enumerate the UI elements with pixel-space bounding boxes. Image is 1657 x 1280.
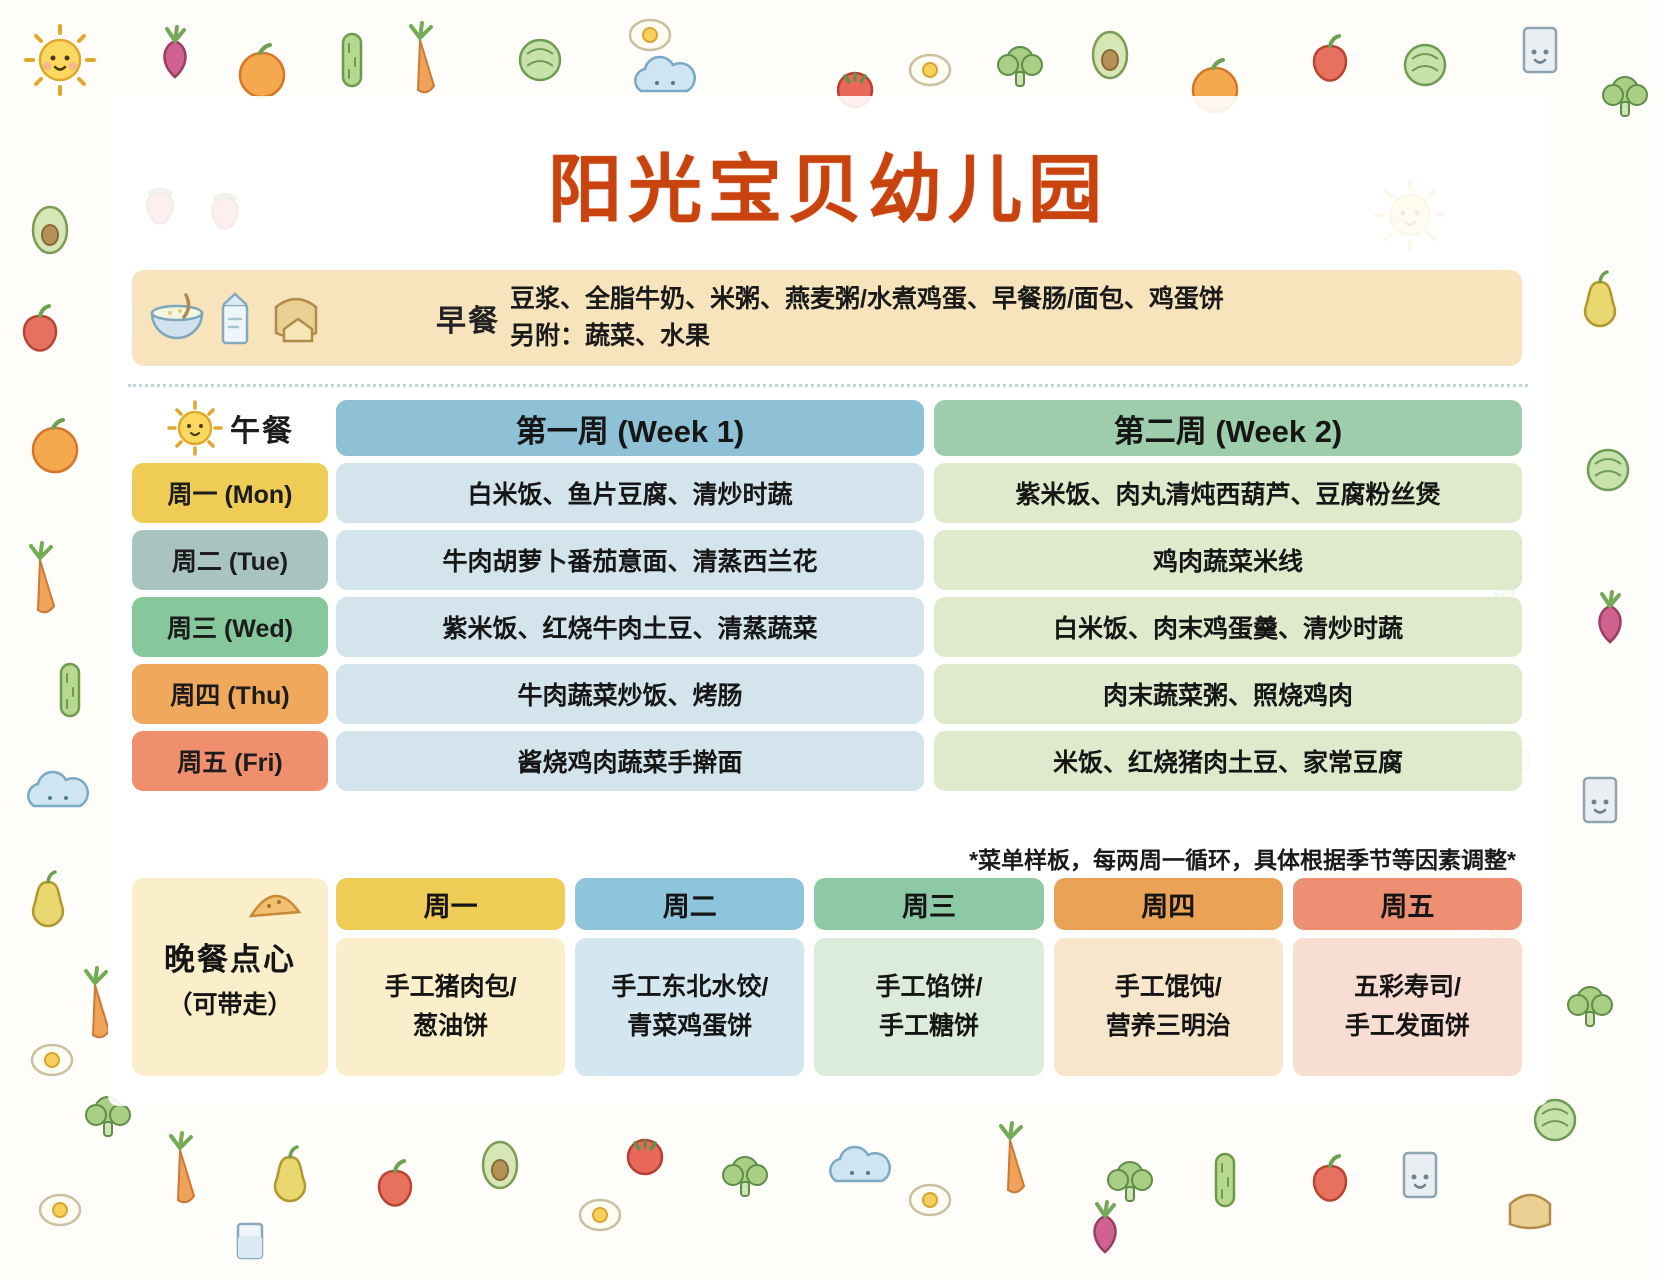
week1-cell-thu: 牛肉蔬菜炒饭、烤肠 bbox=[336, 664, 924, 724]
day-label-tue: 周二 (Tue) bbox=[132, 530, 328, 590]
lunch-row-wed: 周三 (Wed) 紫米饭、红烧牛肉土豆、清蒸蔬菜 白米饭、肉末鸡蛋羹、清炒时蔬 bbox=[132, 597, 1522, 657]
dinner-body-mon: 手工猪肉包/ 葱油饼 bbox=[336, 938, 565, 1076]
dinner-head-fri: 周五 bbox=[1293, 878, 1522, 930]
breakfast-line-2: 另附：蔬菜、水果 bbox=[510, 318, 1522, 356]
dinner-mon-line2: 葱油饼 bbox=[413, 1007, 488, 1046]
dinner-head-mon: 周一 bbox=[336, 878, 565, 930]
lunch-table: 午餐 第一周 (Week 1) 第二周 (Week 2) 周一 (Mon) 白米… bbox=[132, 400, 1522, 798]
dinner-tue-line1: 手工东北水饺/ bbox=[611, 968, 768, 1007]
dinner-thu-line1: 手工馄饨/ bbox=[1115, 968, 1222, 1007]
dinner-body-tue: 手工东北水饺/ 青菜鸡蛋饼 bbox=[575, 938, 804, 1076]
dinner-tue-line2: 青菜鸡蛋饼 bbox=[627, 1007, 752, 1046]
section-divider bbox=[128, 384, 1528, 387]
dinner-snack-section: 晚餐点心 （可带走） 周一 手工猪肉包/ 葱油饼 周二 手工东北水饺/ 青菜鸡蛋… bbox=[132, 878, 1522, 1076]
breakfast-text: 豆浆、全脂牛奶、米粥、燕麦粥/水煮鸡蛋、早餐肠/面包、鸡蛋饼 另附：蔬菜、水果 bbox=[504, 281, 1522, 356]
dinner-fri-line2: 手工发面饼 bbox=[1345, 1007, 1470, 1046]
porridge-bowl-icon bbox=[146, 289, 208, 347]
dinner-body-wed: 手工馅饼/ 手工糖饼 bbox=[814, 938, 1043, 1076]
lunch-row-mon: 周一 (Mon) 白米饭、鱼片豆腐、清炒时蔬 紫米饭、肉丸清炖西葫芦、豆腐粉丝煲 bbox=[132, 463, 1522, 523]
week1-cell-tue: 牛肉胡萝卜番茄意面、清蒸西兰花 bbox=[336, 530, 924, 590]
week1-header: 第一周 (Week 1) bbox=[336, 400, 924, 456]
lunch-row-fri: 周五 (Fri) 酱烧鸡肉蔬菜手擀面 米饭、红烧猪肉土豆、家常豆腐 bbox=[132, 731, 1522, 791]
dinner-col-fri: 周五 五彩寿司/ 手工发面饼 bbox=[1293, 878, 1522, 1076]
menu-poster: 阳光宝贝幼儿园 早餐 bbox=[0, 0, 1657, 1280]
dinner-col-wed: 周三 手工馅饼/ 手工糖饼 bbox=[814, 878, 1043, 1076]
dinner-fri-line1: 五彩寿司/ bbox=[1354, 968, 1461, 1007]
milk-carton-icon bbox=[214, 287, 256, 349]
lunch-row-tue: 周二 (Tue) 牛肉胡萝卜番茄意面、清蒸西兰花 鸡肉蔬菜米线 bbox=[132, 530, 1522, 590]
breakfast-icon-group bbox=[132, 287, 432, 349]
menu-card: 阳光宝贝幼儿园 早餐 bbox=[108, 96, 1548, 1106]
dinner-snack-label-cell: 晚餐点心 （可带走） bbox=[132, 878, 328, 1076]
dinner-wed-line2: 手工糖饼 bbox=[879, 1007, 979, 1046]
sun-icon bbox=[166, 399, 224, 457]
week2-cell-tue: 鸡肉蔬菜米线 bbox=[934, 530, 1522, 590]
week1-cell-mon: 白米饭、鱼片豆腐、清炒时蔬 bbox=[336, 463, 924, 523]
dinner-body-thu: 手工馄饨/ 营养三明治 bbox=[1054, 938, 1283, 1076]
day-label-fri: 周五 (Fri) bbox=[132, 731, 328, 791]
week2-cell-wed: 白米饭、肉末鸡蛋羹、清炒时蔬 bbox=[934, 597, 1522, 657]
breakfast-line-1: 豆浆、全脂牛奶、米粥、燕麦粥/水煮鸡蛋、早餐肠/面包、鸡蛋饼 bbox=[510, 281, 1522, 319]
dinner-head-wed: 周三 bbox=[814, 878, 1043, 930]
dinner-col-tue: 周二 手工东北水饺/ 青菜鸡蛋饼 bbox=[575, 878, 804, 1076]
dinner-col-thu: 周四 手工馄饨/ 营养三明治 bbox=[1054, 878, 1283, 1076]
dinner-wed-line1: 手工馅饼/ bbox=[876, 968, 983, 1007]
week1-cell-fri: 酱烧鸡肉蔬菜手擀面 bbox=[336, 731, 924, 791]
lunch-row-thu: 周四 (Thu) 牛肉蔬菜炒饭、烤肠 肉末蔬菜粥、照烧鸡肉 bbox=[132, 664, 1522, 724]
week2-cell-mon: 紫米饭、肉丸清炖西葫芦、豆腐粉丝煲 bbox=[934, 463, 1522, 523]
menu-footnote: *菜单样板，每两周一循环，具体根据季节等因素调整* bbox=[132, 841, 1522, 875]
bread-loaf-icon bbox=[262, 287, 336, 349]
page-title: 阳光宝贝幼儿园 bbox=[108, 130, 1548, 237]
dinner-snack-subtitle: （可带走） bbox=[167, 985, 292, 1021]
dinner-head-thu: 周四 bbox=[1054, 878, 1283, 930]
dinner-col-mon: 周一 手工猪肉包/ 葱油饼 bbox=[336, 878, 565, 1076]
day-label-wed: 周三 (Wed) bbox=[132, 597, 328, 657]
week2-cell-thu: 肉末蔬菜粥、照烧鸡肉 bbox=[934, 664, 1522, 724]
dinner-snack-columns: 周一 手工猪肉包/ 葱油饼 周二 手工东北水饺/ 青菜鸡蛋饼 周三 bbox=[336, 878, 1522, 1076]
dinner-head-tue: 周二 bbox=[575, 878, 804, 930]
week2-cell-fri: 米饭、红烧猪肉土豆、家常豆腐 bbox=[934, 731, 1522, 791]
week1-cell-wed: 紫米饭、红烧牛肉土豆、清蒸蔬菜 bbox=[336, 597, 924, 657]
lunch-label: 午餐 bbox=[230, 406, 294, 450]
day-label-thu: 周四 (Thu) bbox=[132, 664, 328, 724]
dinner-body-fri: 五彩寿司/ 手工发面饼 bbox=[1293, 938, 1522, 1076]
lunch-header-row: 午餐 第一周 (Week 1) 第二周 (Week 2) bbox=[132, 400, 1522, 456]
breakfast-label: 早餐 bbox=[436, 296, 500, 340]
orange-slice-icon bbox=[245, 882, 305, 922]
dinner-mon-line1: 手工猪肉包/ bbox=[385, 968, 517, 1007]
week2-header: 第二周 (Week 2) bbox=[934, 400, 1522, 456]
lunch-label-cell: 午餐 bbox=[132, 400, 328, 456]
dinner-thu-line2: 营养三明治 bbox=[1106, 1007, 1231, 1046]
day-label-mon: 周一 (Mon) bbox=[132, 463, 328, 523]
breakfast-section: 早餐 豆浆、全脂牛奶、米粥、燕麦粥/水煮鸡蛋、早餐肠/面包、鸡蛋饼 另附：蔬菜、… bbox=[132, 270, 1522, 366]
dinner-snack-title: 晚餐点心 bbox=[164, 934, 296, 979]
